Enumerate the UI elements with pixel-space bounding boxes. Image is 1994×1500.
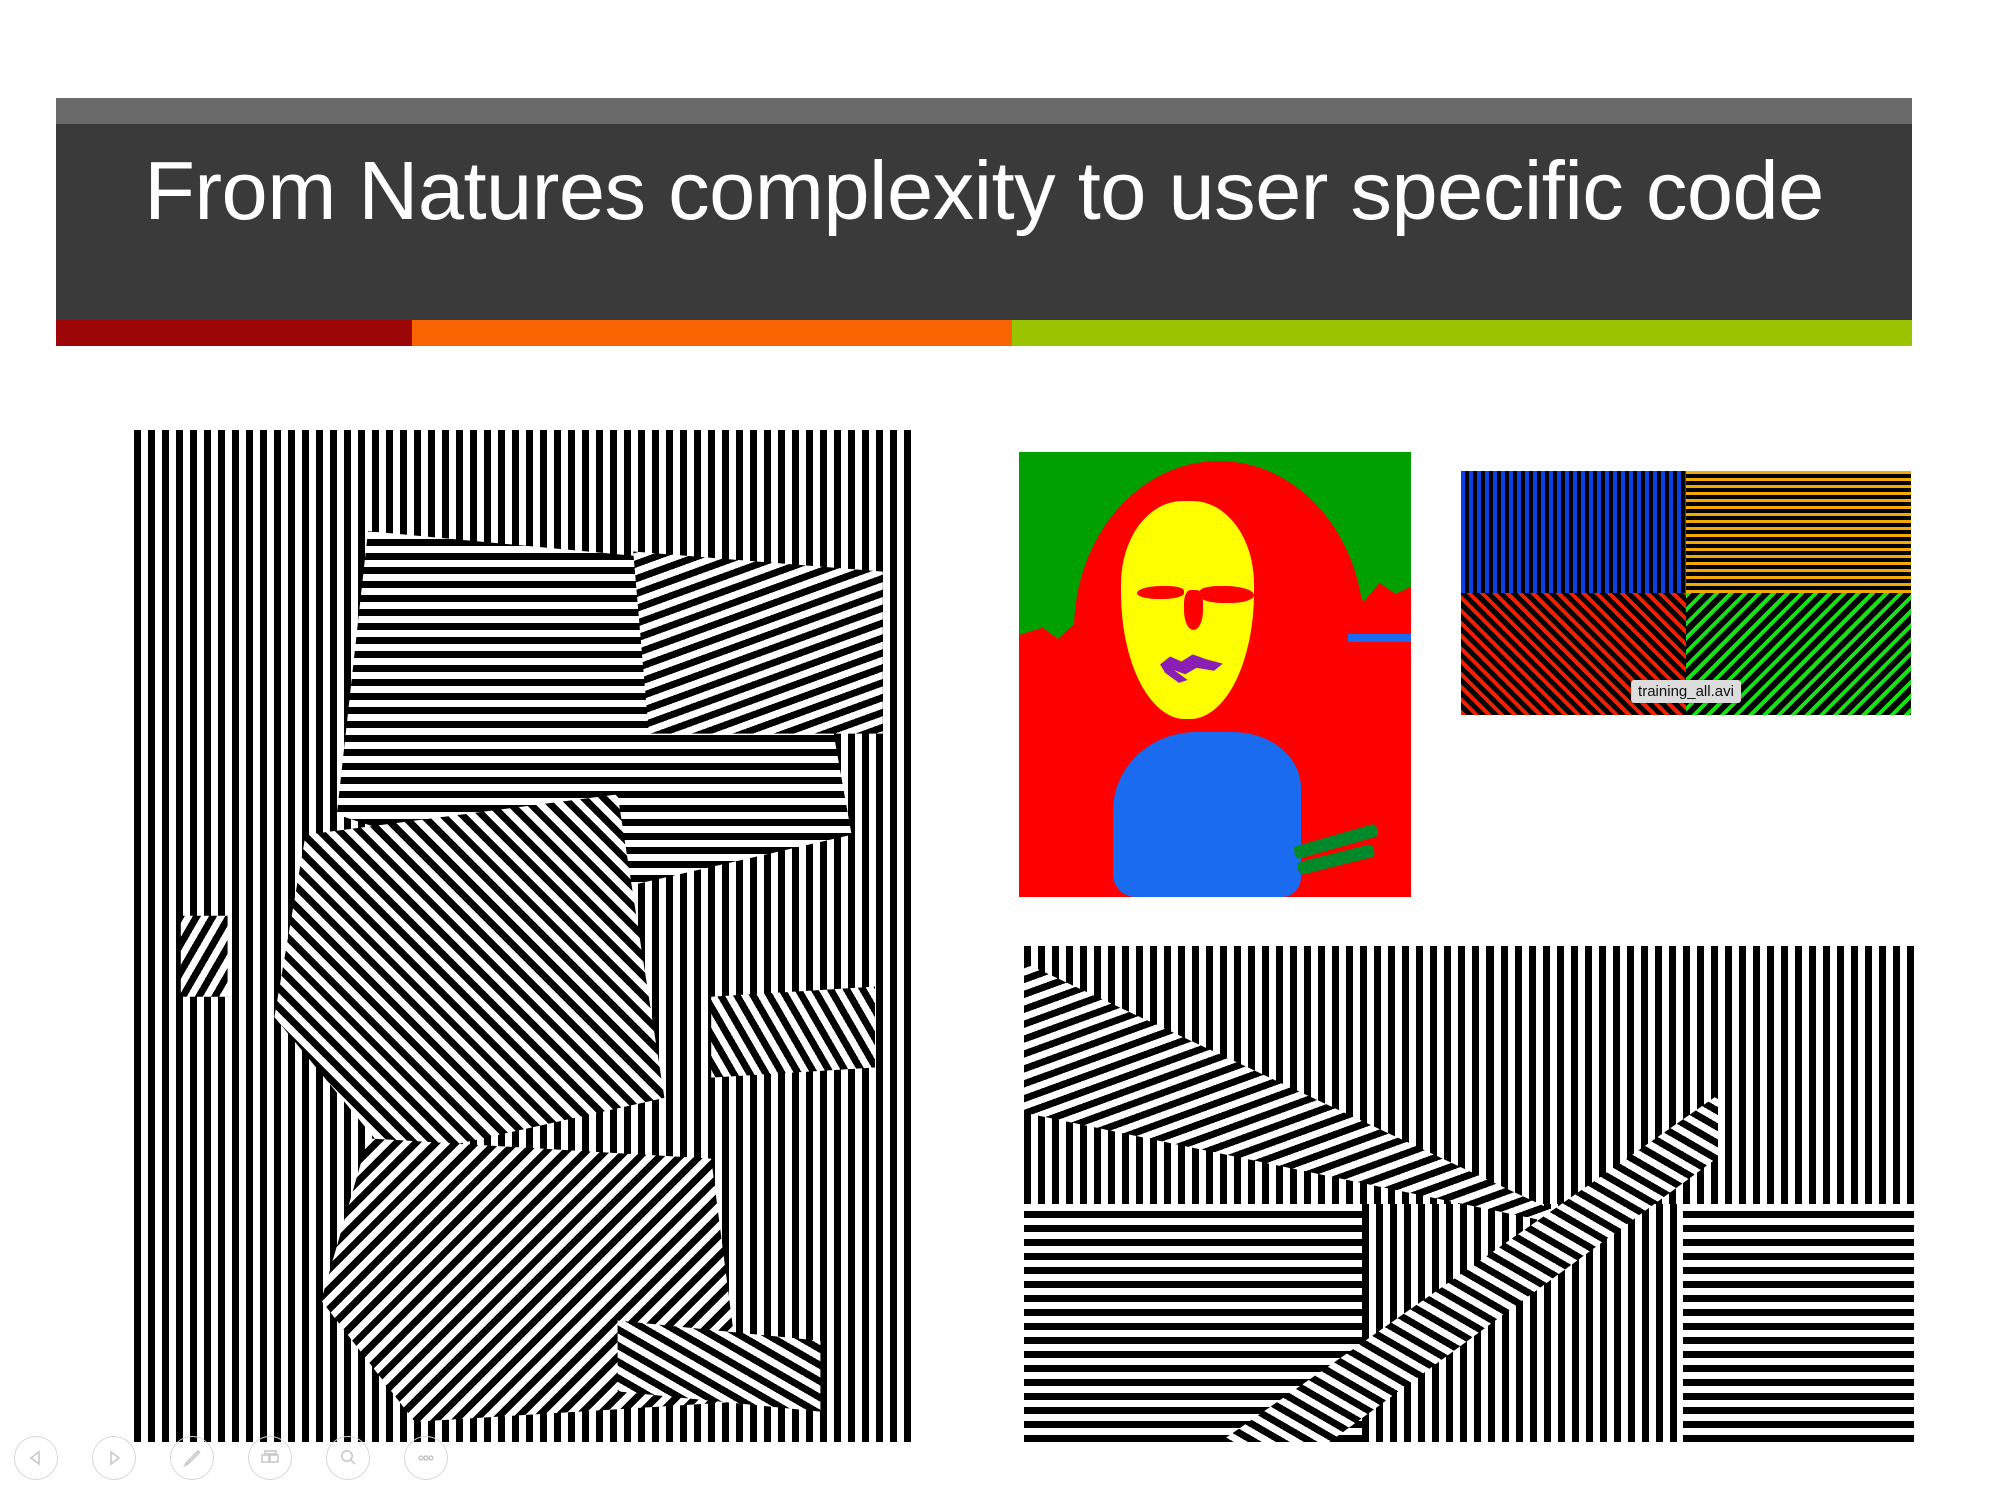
- slideshow-toolbar: [14, 1434, 448, 1482]
- page-title: From Natures complexity to user specific…: [56, 124, 1912, 320]
- previous-slide-button[interactable]: [14, 1436, 58, 1480]
- mona-bodice: [1113, 732, 1301, 897]
- orientation-stripe-figure: [134, 430, 914, 1442]
- accent-stripe-orange: [412, 320, 1011, 346]
- quadrant-grid: [1461, 471, 1911, 715]
- ellipsis-icon: [414, 1446, 438, 1470]
- next-slide-button[interactable]: [92, 1436, 136, 1480]
- four-quadrant-stripe-video: training_all.avi: [1461, 471, 1911, 715]
- pen-icon: [180, 1446, 204, 1470]
- slides-icon: [258, 1446, 282, 1470]
- accent-stripe-green: [1012, 320, 1912, 346]
- mona-eyebrow-left: [1137, 586, 1184, 599]
- accent-stripe-red: [56, 320, 412, 346]
- title-top-accent-bar: [56, 98, 1912, 124]
- mona-nose: [1184, 590, 1204, 630]
- radial-stripe-figure: [1024, 946, 1914, 1442]
- accent-stripe: [56, 320, 1912, 346]
- pen-tool-button[interactable]: [170, 1436, 214, 1480]
- mona-eyebrow-right: [1199, 586, 1254, 604]
- video-filename-label: training_all.avi: [1631, 680, 1741, 703]
- more-options-button[interactable]: [404, 1436, 448, 1480]
- zoom-button[interactable]: [326, 1436, 370, 1480]
- triangle-right-icon: [103, 1447, 125, 1469]
- title-background: From Natures complexity to user specific…: [56, 124, 1912, 320]
- radial-region-lower-right: [1683, 1204, 1914, 1442]
- quadrant-top-left-blue-vertical: [1461, 471, 1686, 593]
- mona-blue-detail: [1348, 634, 1411, 641]
- slide-title-block: From Natures complexity to user specific…: [56, 98, 1912, 346]
- posterized-mona-lisa: [1019, 452, 1411, 897]
- quadrant-top-right-orange-horizontal: [1686, 471, 1911, 593]
- magnifier-icon: [336, 1446, 360, 1470]
- triangle-left-icon: [25, 1447, 47, 1469]
- all-slides-button[interactable]: [248, 1436, 292, 1480]
